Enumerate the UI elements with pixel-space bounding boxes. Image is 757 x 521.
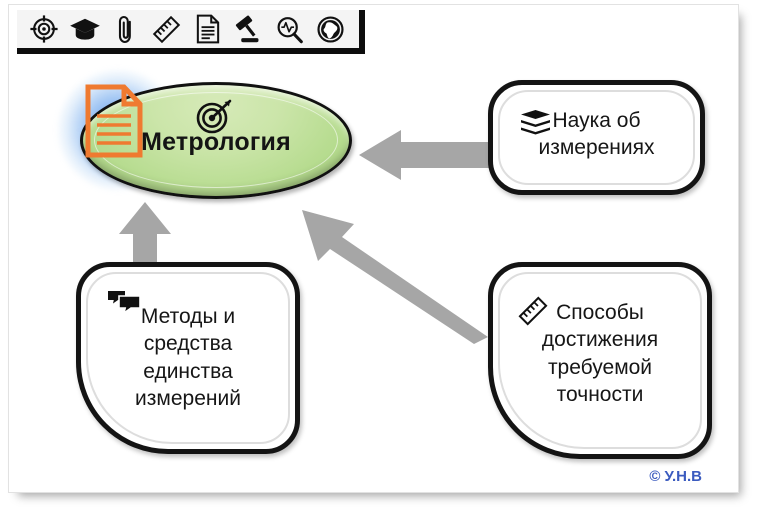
ruler-icon[interactable] — [146, 11, 187, 47]
node-methods-text: Методы и средства единства измерений — [81, 303, 295, 412]
node-science[interactable]: Наука об измерениях — [488, 80, 705, 195]
arrow-science-to-center — [357, 126, 489, 184]
center-label: Метрология — [80, 128, 352, 157]
node-science-text: Наука об измерениях — [493, 107, 700, 162]
document-icon[interactable] — [187, 11, 228, 47]
node-accuracy-text: Способы достижения требуемой точности — [493, 299, 707, 408]
icon-toolbar — [17, 10, 365, 54]
node-methods[interactable]: Методы и средства единства измерений — [76, 262, 300, 454]
diagram-canvas: Метрология Наука об измерениях — [0, 0, 757, 521]
paperclip-icon[interactable] — [105, 11, 146, 47]
copyright-text: © У.Н.В — [0, 468, 757, 485]
magnifier-pulse-icon[interactable] — [269, 11, 310, 47]
arrow-methods-to-center — [116, 200, 174, 268]
crosshair-target-icon[interactable] — [23, 11, 64, 47]
graduation-cap-icon[interactable] — [64, 11, 105, 47]
globe-icon[interactable] — [310, 11, 351, 47]
gavel-icon[interactable] — [228, 11, 269, 47]
node-accuracy[interactable]: Способы достижения требуемой точности — [488, 262, 712, 459]
arrow-accuracy-to-center — [296, 204, 490, 344]
